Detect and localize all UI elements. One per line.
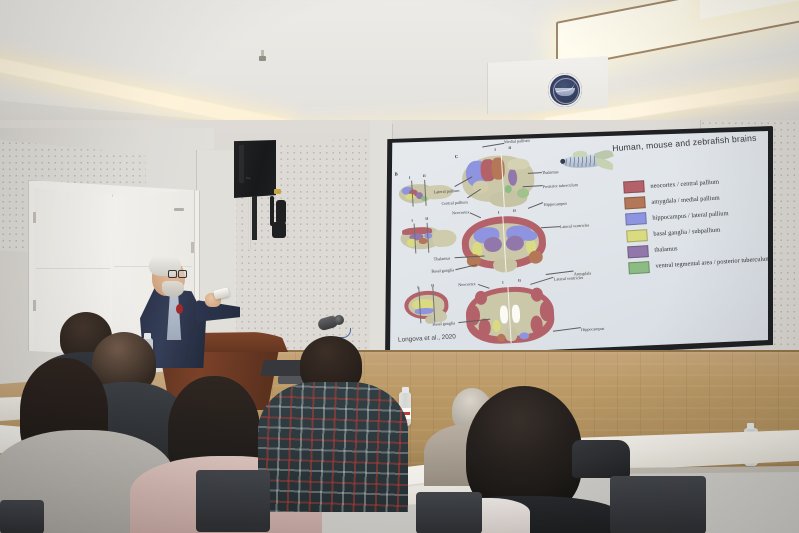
zebrafish-coronal <box>459 151 538 211</box>
backpack-on-desk[interactable] <box>572 440 630 478</box>
figure-label-lateral-ventricles-2: Lateral ventricles <box>554 275 583 282</box>
legend-label-thalamus: thalamus <box>654 246 677 254</box>
figure-label-thalamus-1: Thalamus <box>542 169 559 175</box>
audience-plaid-shirt <box>258 382 408 512</box>
figure-label-lateral-ventricles-1: Lateral ventricles <box>560 222 589 229</box>
panel-mc-II: II <box>513 209 516 213</box>
brain-figure: B I II C I II <box>390 133 632 357</box>
door-hinge-3 <box>191 242 194 253</box>
legend-swatch-thalamus <box>627 245 649 258</box>
panel-letter-B: B <box>395 171 398 176</box>
leader-15 <box>553 327 581 331</box>
legend-swatch-neocortex <box>623 180 645 193</box>
speaker-cable-tag <box>274 189 281 194</box>
panel-mc-I: I <box>498 211 500 215</box>
leader-8 <box>541 226 560 228</box>
legend-label-hippocampus: hippocampus / lateral pallium <box>652 210 728 222</box>
figure-label-neocortex-1: Neocortex <box>452 209 470 215</box>
chair-4[interactable] <box>0 500 44 533</box>
panel-sub-I: I <box>409 176 411 180</box>
legend-label-basal-ganglia: basal ganglia / subpallium <box>653 227 720 238</box>
legend-swatch-vta <box>628 261 650 274</box>
human-coronal <box>464 285 555 350</box>
legend-swatch-hippocampus <box>625 213 647 226</box>
figure-label-basal-ganglia-1: Basal ganglia <box>431 267 454 273</box>
speaker-cable-3 <box>272 222 286 238</box>
figure-label-basal-ganglia-2: Basal ganglia <box>432 320 455 326</box>
lecture-hall-photo: PA Human, mouse and zebrafish brains Lon… <box>0 0 799 533</box>
figure-label-thalamus-2: Thalamus <box>434 256 451 262</box>
figure-label-hippocampus-1: Hippocampus <box>544 201 568 207</box>
legend-swatch-amygdala <box>624 196 646 209</box>
figure-label-lateral-pallium: Lateral pallium <box>434 188 460 194</box>
leader-1 <box>482 143 504 147</box>
door-handle[interactable] <box>174 208 184 211</box>
panel-m-I: I <box>411 219 413 223</box>
legend-label-amygdala: amygdala / medial pallium <box>651 194 720 205</box>
slide-legend: neocortex / central pallium amygdala / m… <box>623 173 768 279</box>
panel-m-II: II <box>425 217 428 221</box>
panel-hc-II: II <box>518 278 521 282</box>
figure-label-posterior-tuberculum: Posterior tuberculum <box>543 182 578 189</box>
university-seal-icon <box>548 73 582 107</box>
figure-label-hippocampus-2: Hippocampus <box>581 326 605 332</box>
presenter-beard <box>162 281 184 297</box>
speaker-cable-2 <box>276 200 286 224</box>
speaker-arm <box>252 196 257 240</box>
chair-3[interactable] <box>610 476 706 533</box>
panel-hc-I: I <box>502 280 504 284</box>
wall-speaker-icon: PA <box>234 140 276 198</box>
figure-label-neocortex-2: Neocortex <box>458 281 476 287</box>
chair-2[interactable] <box>416 492 482 533</box>
door-panel-line-1 <box>36 268 110 269</box>
eyeglasses-icon <box>168 270 186 277</box>
mouse-coronal <box>460 214 547 281</box>
chair-1[interactable] <box>196 470 270 532</box>
door-hinge-2 <box>33 300 36 311</box>
panel-sub-II: II <box>423 174 426 178</box>
leader-11 <box>546 270 574 274</box>
panel-letter-C: C <box>455 154 459 159</box>
leader-14 <box>530 277 553 285</box>
sprinkler-head-icon <box>259 50 266 62</box>
panel-c-I: I <box>494 148 496 152</box>
legend-label-vta: ventral tegmental area / posterior tuber… <box>655 256 768 270</box>
presenter-lapel-pin <box>176 304 183 314</box>
zebrafish-icon <box>557 149 616 174</box>
legend-label-neocortex: neocortex / central pallium <box>650 178 719 189</box>
legend-swatch-basal-ganglia <box>626 229 648 242</box>
door-hinge-1 <box>33 212 36 223</box>
projection-screen[interactable]: Human, mouse and zebrafish brains Longov… <box>390 131 768 357</box>
panel-c-II: II <box>508 146 511 150</box>
speaker-brand-label: PA <box>246 176 251 180</box>
mouse-sagittal <box>400 221 460 254</box>
